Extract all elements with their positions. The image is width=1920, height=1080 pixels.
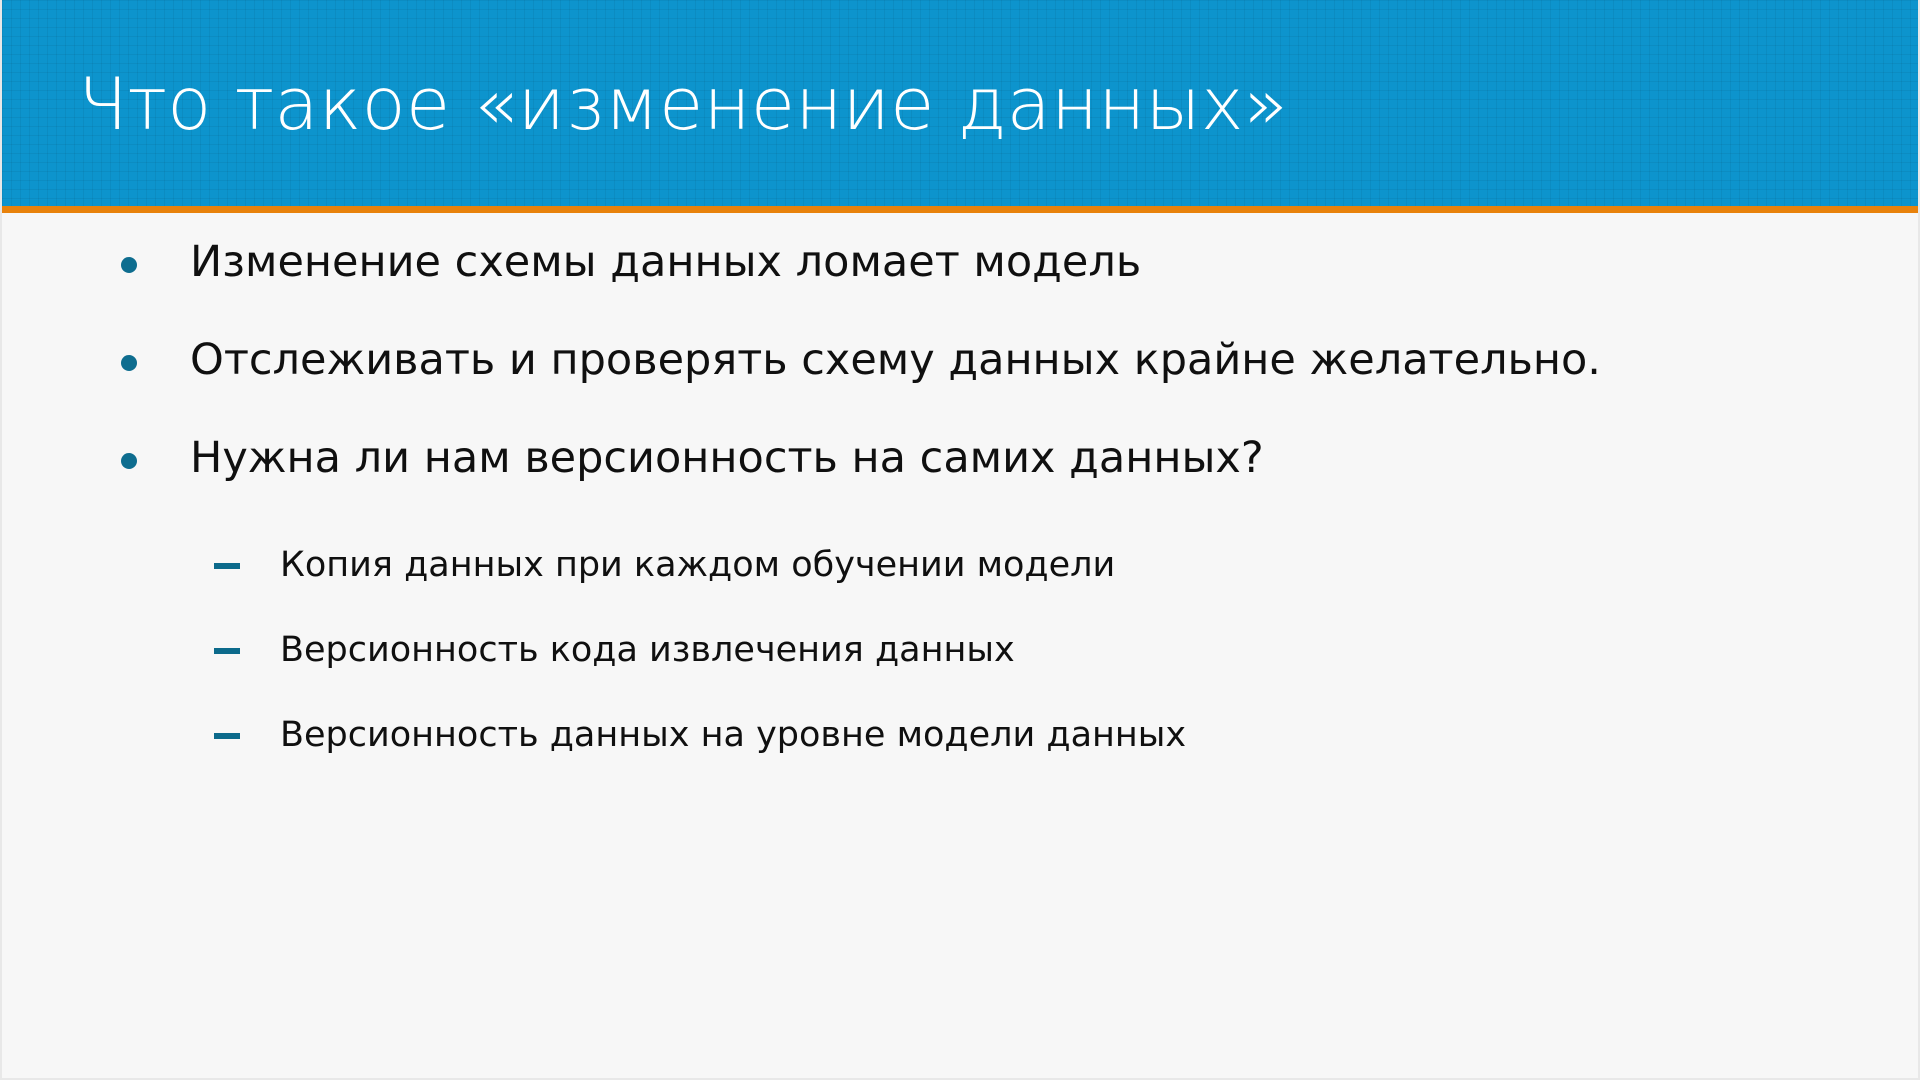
list-item: Отслеживать и проверять схему данных кра… [2, 311, 1920, 409]
presentation-slide: Что такое «изменение данных» Изменение с… [0, 0, 1920, 1080]
slide-body: Изменение схемы данных ломает модель Отс… [2, 213, 1920, 1080]
list-spacer [2, 507, 1920, 523]
sub-list-item: Версионность кода извлечения данных [2, 608, 1920, 693]
round-bullet-icon [121, 355, 137, 371]
title-accent-rule [2, 206, 1920, 213]
list-item: Нужна ли нам версионность на самих данны… [2, 409, 1920, 507]
bullet-label: Нужна ли нам версионность на самих данны… [190, 409, 1920, 507]
bullet-list: Изменение схемы данных ломает модель Отс… [2, 213, 1920, 778]
sub-bullet-label: Версионность данных на уровне модели дан… [280, 693, 1920, 778]
round-bullet-icon [121, 257, 137, 273]
bullet-label: Изменение схемы данных ломает модель [190, 213, 1920, 311]
slide-title-band: Что такое «изменение данных» [2, 0, 1920, 206]
round-bullet-icon [121, 453, 137, 469]
list-item: Изменение схемы данных ломает модель [2, 213, 1920, 311]
sub-bullet-label: Копия данных при каждом обучении модели [280, 523, 1920, 608]
sub-bullet-label: Версионность кода извлечения данных [280, 608, 1920, 693]
bullet-label: Отслеживать и проверять схему данных кра… [190, 311, 1920, 409]
page-title: Что такое «изменение данных» [78, 60, 1858, 148]
dash-bullet-icon [214, 733, 240, 739]
sub-list-item: Копия данных при каждом обучении модели [2, 523, 1920, 608]
dash-bullet-icon [214, 563, 240, 569]
sub-list-item: Версионность данных на уровне модели дан… [2, 693, 1920, 778]
dash-bullet-icon [214, 648, 240, 654]
